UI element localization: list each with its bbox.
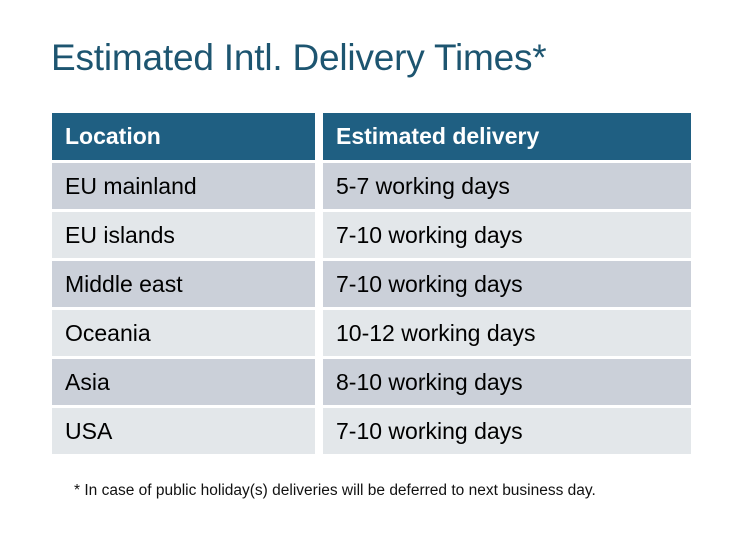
column-divider: [315, 261, 323, 307]
page-title: Estimated Intl. Delivery Times*: [51, 36, 547, 80]
cell-estimated-delivery: 7-10 working days: [323, 261, 691, 307]
table-row: EU mainland 5-7 working days: [52, 163, 691, 209]
table-header-row: Location Estimated delivery: [52, 113, 691, 160]
cell-location: EU mainland: [52, 163, 315, 209]
cell-estimated-delivery: 7-10 working days: [323, 212, 691, 258]
cell-location: Middle east: [52, 261, 315, 307]
column-header-location: Location: [52, 113, 315, 160]
table-row: Oceania 10-12 working days: [52, 310, 691, 356]
column-divider: [315, 359, 323, 405]
cell-location: Asia: [52, 359, 315, 405]
cell-location: USA: [52, 408, 315, 454]
footnote: * In case of public holiday(s) deliverie…: [74, 481, 596, 501]
cell-estimated-delivery: 5-7 working days: [323, 163, 691, 209]
cell-location: EU islands: [52, 212, 315, 258]
cell-location: Oceania: [52, 310, 315, 356]
cell-estimated-delivery: 7-10 working days: [323, 408, 691, 454]
estimated-delivery-times-table: Location Estimated delivery EU mainland …: [52, 113, 691, 457]
column-header-estimated-delivery: Estimated delivery: [323, 113, 691, 160]
column-divider: [315, 408, 323, 454]
delivery-times-page: Estimated Intl. Delivery Times* Location…: [0, 0, 745, 536]
table-row: Middle east 7-10 working days: [52, 261, 691, 307]
cell-estimated-delivery: 8-10 working days: [323, 359, 691, 405]
table-row: EU islands 7-10 working days: [52, 212, 691, 258]
table-row: USA 7-10 working days: [52, 408, 691, 454]
cell-estimated-delivery: 10-12 working days: [323, 310, 691, 356]
column-divider: [315, 163, 323, 209]
column-divider: [315, 212, 323, 258]
table-row: Asia 8-10 working days: [52, 359, 691, 405]
column-divider: [315, 310, 323, 356]
column-divider: [315, 113, 323, 160]
